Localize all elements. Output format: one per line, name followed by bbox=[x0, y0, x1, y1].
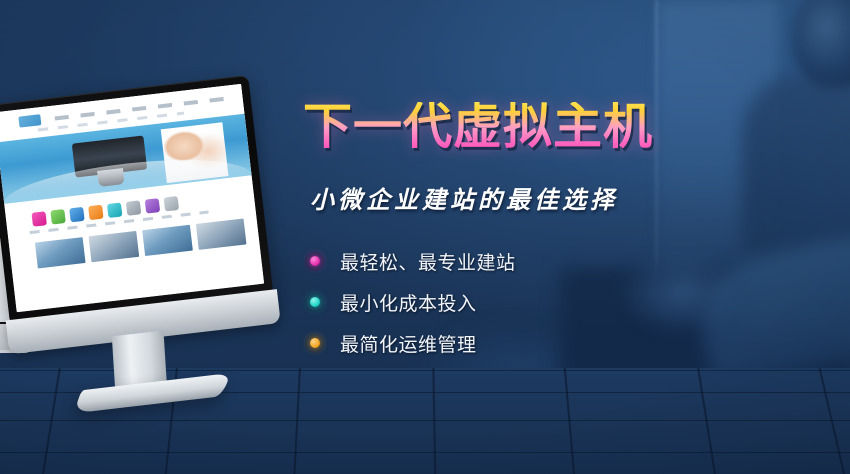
promo-banner: 下一代虚拟主机 小微企业建站的最佳选择 最轻松、最专业建站 最小化成本投入 最简… bbox=[0, 0, 850, 474]
feature-label: 最小化成本投入 bbox=[340, 289, 477, 316]
bullet-dot-core bbox=[310, 256, 320, 266]
website-thumbnail bbox=[142, 225, 193, 256]
website-icon-purple bbox=[145, 198, 161, 214]
imac-screen bbox=[0, 84, 264, 312]
feature-list: 最轻松、最专业建站 最小化成本投入 最简化运维管理 bbox=[305, 248, 516, 356]
feature-label: 最简化运维管理 bbox=[340, 330, 477, 357]
list-item: 最简化运维管理 bbox=[305, 330, 516, 356]
website-logo bbox=[18, 114, 41, 127]
website-icon-blue bbox=[69, 207, 85, 223]
feature-label: 最轻松、最专业建站 bbox=[340, 248, 516, 275]
floor-line-vertical bbox=[694, 368, 719, 474]
floor-line-horizontal bbox=[0, 452, 850, 453]
website-icon-cyan bbox=[107, 202, 123, 218]
page-title: 下一代虚拟主机 bbox=[303, 102, 653, 151]
floor-line-vertical bbox=[562, 368, 577, 474]
imac-bezel bbox=[0, 75, 273, 322]
website-mockup bbox=[0, 84, 264, 312]
website-thumbnail bbox=[35, 237, 86, 268]
bullet-dot-teal-icon bbox=[305, 293, 324, 312]
list-item: 最轻松、最专业建站 bbox=[305, 248, 516, 274]
website-icon-orange bbox=[88, 205, 104, 221]
imac-monitor bbox=[0, 67, 299, 418]
website-thumbnail bbox=[196, 218, 247, 249]
website-icon-gray bbox=[126, 200, 142, 216]
floor-line-vertical bbox=[432, 368, 437, 474]
floor-line-horizontal bbox=[0, 420, 850, 421]
bullet-dot-magenta-icon bbox=[305, 252, 324, 271]
floor-line-vertical bbox=[814, 368, 850, 474]
website-icon-pink bbox=[31, 211, 47, 227]
bullet-dot-orange-icon bbox=[305, 334, 324, 353]
bullet-dot-core bbox=[310, 338, 320, 348]
website-icon-green bbox=[50, 209, 66, 225]
bullet-dot-core bbox=[310, 297, 320, 307]
page-subtitle: 小微企业建站的最佳选择 bbox=[310, 180, 618, 215]
website-thumbnail bbox=[89, 231, 140, 262]
list-item: 最小化成本投入 bbox=[305, 289, 516, 315]
website-icon-gray-2 bbox=[164, 196, 180, 212]
